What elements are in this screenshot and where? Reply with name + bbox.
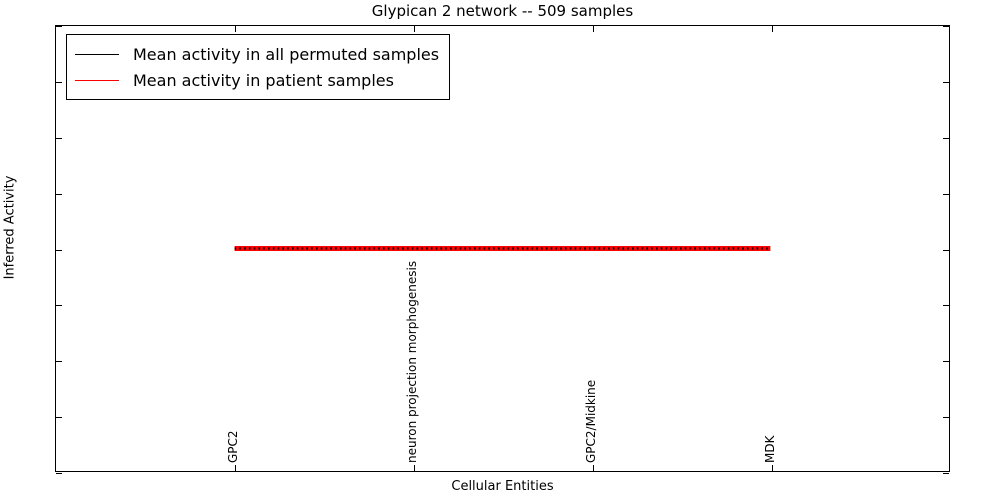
x-axis-label: Cellular Entities: [55, 479, 950, 494]
legend-swatch-patient-icon: [75, 80, 119, 81]
plot-area: 43210−1−2−3−4 GPC2neuron projection morp…: [55, 25, 950, 472]
legend-item-patient: Mean activity in patient samples: [75, 67, 439, 93]
y-tick-mark: [943, 473, 949, 474]
legend-item-permuted: Mean activity in all permuted samples: [75, 41, 439, 67]
y-tick-mark: [56, 473, 62, 474]
legend-label-patient: Mean activity in patient samples: [133, 71, 394, 90]
chart-title: Glypican 2 network -- 509 samples: [55, 0, 950, 22]
y-axis-label: Inferred Activity: [3, 18, 18, 438]
chart-legend: Mean activity in all permuted samples Me…: [66, 34, 450, 100]
legend-label-permuted: Mean activity in all permuted samples: [133, 45, 439, 64]
chart-figure: Glypican 2 network -- 509 samples 43210−…: [0, 0, 1000, 500]
legend-swatch-permuted-icon: [75, 54, 119, 55]
